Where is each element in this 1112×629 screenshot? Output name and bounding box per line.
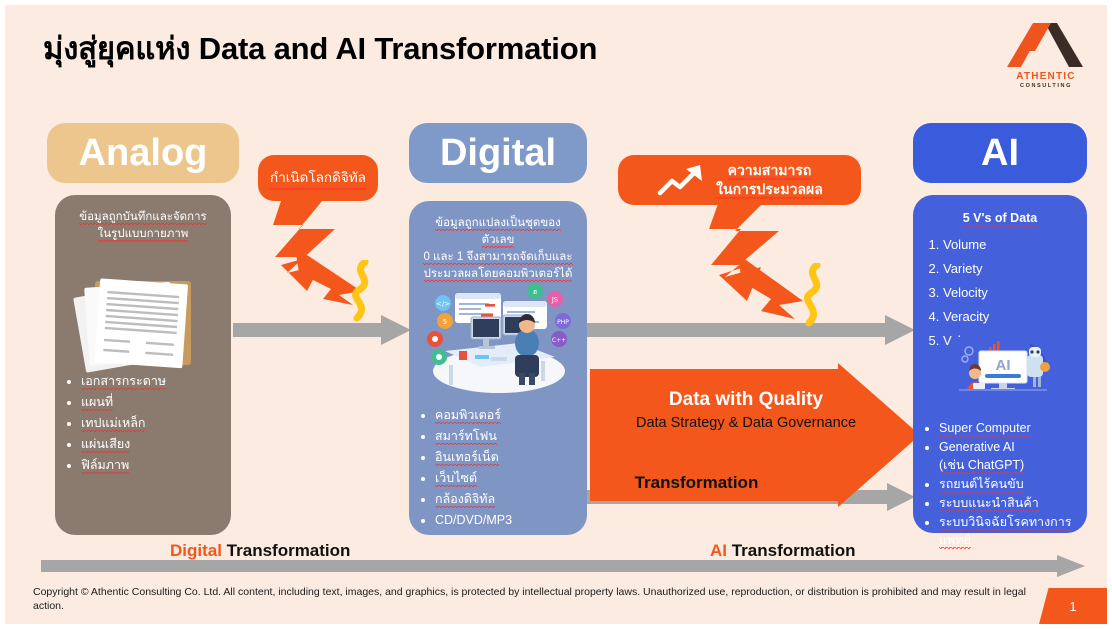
analog-item-list: เอกสารกระดาษ แผนที่ เทปแม่เหล็ก แผ่นเสีย… (65, 371, 221, 475)
callout-processing-line2: ในการประมวลผล (716, 181, 823, 199)
label-ai-accent: AI (710, 541, 727, 560)
analog-description-line1: ข้อมูลถูกบันทึกและจัดการ (79, 211, 206, 225)
analog-description: ข้อมูลถูกบันทึกและจัดการ ในรูปแบบกายภาพ (65, 209, 221, 243)
svg-text:5: 5 (443, 318, 447, 326)
digital-description: ข้อมูลถูกแปลงเป็นชุดของตัวเลข 0 และ 1 จึ… (419, 215, 577, 283)
developer-workstation-illustration: </> 5 ฮ JS PHP C++ (423, 277, 575, 395)
squiggle-1 (345, 260, 379, 327)
digital-description-line1: ข้อมูลถูกแปลงเป็นชุดของตัวเลข (435, 217, 560, 248)
list-item: Volume (943, 233, 1077, 256)
label-digital-rest: Transformation (222, 541, 350, 560)
list-item: สมาร์ทโฟน (435, 426, 577, 446)
svg-text:AI: AI (996, 357, 1011, 374)
slide-canvas: มุ่งสู่ยุคแห่ง Data and AI Transformatio… (0, 0, 1112, 629)
list-item: แผ่นเสียง (81, 434, 221, 454)
analog-description-line2: ในรูปแบบกายภาพ (98, 228, 189, 242)
list-item: ระบบแนะนำสินค้า (939, 494, 1077, 512)
ai-robot-illustration: AI (951, 337, 1055, 397)
list-item: Generative AI (เช่น ChatGPT) (939, 438, 1077, 474)
logo-a-mark (1005, 21, 1087, 69)
list-item: Super Computer (939, 419, 1077, 437)
callout-processing-line1: ความสามารถ (728, 162, 812, 180)
list-item: ฟิล์มภาพ (81, 455, 221, 475)
label-ai-transformation: AI Transformation (710, 541, 855, 561)
logo-subtitle: CONSULTING (1005, 83, 1087, 89)
copyright-line1: Copyright © Athentic Consulting Co. Ltd.… (33, 586, 918, 598)
stage-caption-digital: Digital (409, 123, 587, 183)
squiggle-2 (797, 263, 831, 332)
svg-text:JS: JS (551, 296, 559, 304)
page-number-badge: 1 (1039, 588, 1107, 624)
list-item: CD/DVD/MP3 (435, 510, 577, 530)
ai-5vs-list: Volume Variety Velocity Veracity Value (923, 233, 1077, 352)
label-data-rest: Transformation (630, 473, 758, 492)
stage-caption-analog: Analog (47, 123, 239, 183)
label-data-transformation: Data Transformation (593, 473, 758, 493)
callout-processing-power-text: ความสามารถ ในการประมวลผล (716, 161, 823, 199)
digital-description-line2: 0 และ 1 จึงสามารถจัดเก็บและ (423, 251, 572, 265)
list-item: อินเทอร์เน็ต (435, 447, 577, 467)
callout-digital-origin-text: กำเนิดโลกดิจิทัล (270, 166, 366, 190)
svg-text:ฮ: ฮ (533, 288, 537, 296)
connector-analog-to-digital (233, 315, 411, 350)
athentic-logo: ATHENTIC CONSULTING (1005, 21, 1087, 91)
digital-item-list: คอมพิวเตอร์ สมาร์ทโฟน อินเทอร์เน็ต เว็บไ… (419, 405, 577, 530)
callout-processing-power: ความสามารถ ในการประมวลผล (618, 155, 861, 205)
list-item: กล้องดิจิทัล (435, 489, 577, 509)
list-item: คอมพิวเตอร์ (435, 405, 577, 425)
copyright-notice: Copyright © Athentic Consulting Co. Ltd.… (33, 585, 1033, 613)
stage-caption-ai: AI (913, 123, 1087, 183)
page-title: มุ่งสู่ยุคแห่ง Data and AI Transformatio… (43, 23, 597, 73)
label-ai-rest: Transformation (727, 541, 855, 560)
label-data-accent: Data (593, 473, 630, 492)
list-item: Velocity (943, 281, 1077, 304)
ai-5vs-heading: 5 V's of Data (923, 211, 1077, 225)
list-item: เว็บไซต์ (435, 468, 577, 488)
label-digital-transformation: Digital Transformation (170, 541, 350, 561)
list-item: เทปแม่เหล็ก (81, 413, 221, 433)
list-item: ระบบวินิจฉัยโรคทางการแพทย์ (939, 513, 1077, 549)
paper-documents-illustration (67, 267, 215, 379)
svg-text:C++: C++ (552, 337, 566, 344)
list-item: Veracity (943, 305, 1077, 328)
svg-text:PHP: PHP (557, 319, 569, 326)
ai-item-list: Super Computer Generative AI (เช่น ChatG… (923, 419, 1077, 549)
list-item: แผนที่ (81, 392, 221, 412)
label-digital-accent: Digital (170, 541, 222, 560)
list-item: Variety (943, 257, 1077, 280)
trending-up-icon (656, 163, 706, 197)
logo-name: ATHENTIC (1005, 71, 1087, 82)
list-item: รถยนต์ไร้คนขับ (939, 475, 1077, 493)
svg-text:</>: </> (436, 300, 450, 308)
